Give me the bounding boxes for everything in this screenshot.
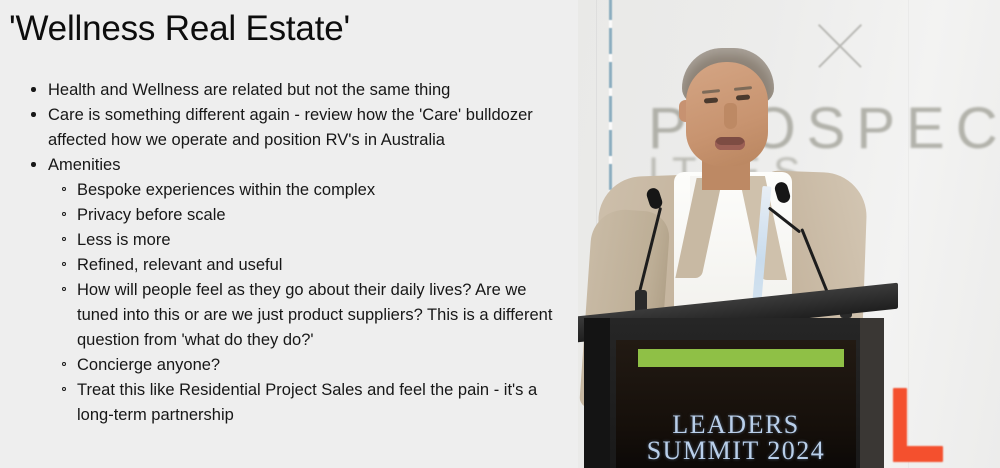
bullet-circle-icon (62, 287, 66, 291)
sub-list-item-label: Concierge anyone? (77, 353, 570, 378)
bullet-list: Health and Wellness are related but not … (0, 78, 570, 428)
list-item: Amenities Bespoke experiences within the… (0, 153, 570, 428)
podium-side-left (584, 318, 610, 468)
slide-panel: 'Wellness Real Estate' Health and Wellne… (0, 0, 578, 468)
podium-side-right (860, 318, 884, 468)
sub-list-item-label: Privacy before scale (77, 203, 570, 228)
sub-list-item-label: Treat this like Residential Project Sale… (77, 378, 570, 428)
sub-list-item-label: Refined, relevant and useful (77, 253, 570, 278)
sign-title-line2: SUMMIT 2024 (616, 436, 856, 466)
bullet-dot-icon (31, 112, 36, 117)
list-item: Health and Wellness are related but not … (0, 78, 570, 103)
sub-list-item: Bespoke experiences within the complex (48, 178, 570, 203)
sub-list-item: Treat this like Residential Project Sale… (48, 378, 570, 428)
sign-accent-bar (638, 349, 844, 367)
sub-list-item: Refined, relevant and useful (48, 253, 570, 278)
sub-list-item: Privacy before scale (48, 203, 570, 228)
sub-list-item-label: How will people feel as they go about th… (77, 278, 570, 353)
list-item-label: Care is something different again - revi… (48, 103, 570, 153)
list-item: Care is something different again - revi… (0, 103, 570, 153)
slide-with-photo-screen: 'Wellness Real Estate' Health and Wellne… (0, 0, 1000, 468)
mouth (715, 137, 745, 150)
bullet-circle-icon (62, 262, 66, 266)
sub-list-item-label: Bespoke experiences within the complex (77, 178, 570, 203)
bullet-circle-icon (62, 237, 66, 241)
sub-list-item: Concierge anyone? (48, 353, 570, 378)
sub-list-item: How will people feel as they go about th… (48, 278, 570, 353)
bullet-circle-icon (62, 362, 66, 366)
bullet-circle-icon (62, 387, 66, 391)
sub-bullet-list: Bespoke experiences within the complex P… (48, 178, 570, 428)
speaker-photo: PROSPECTA ITIES (578, 0, 1000, 468)
list-item-label: Health and Wellness are related but not … (48, 78, 570, 103)
nose (724, 103, 737, 129)
list-item-label: Amenities (48, 153, 570, 178)
podium-sign: LEADERS SUMMIT 2024 THE BUSINESS OF AGEI… (616, 340, 856, 468)
bullet-circle-icon (62, 212, 66, 216)
sub-list-item: Less is more (48, 228, 570, 253)
page-title: 'Wellness Real Estate' (9, 8, 350, 50)
bullet-dot-icon (31, 162, 36, 167)
bullet-dot-icon (31, 87, 36, 92)
bullet-circle-icon (62, 187, 66, 191)
sub-list-item-label: Less is more (77, 228, 570, 253)
